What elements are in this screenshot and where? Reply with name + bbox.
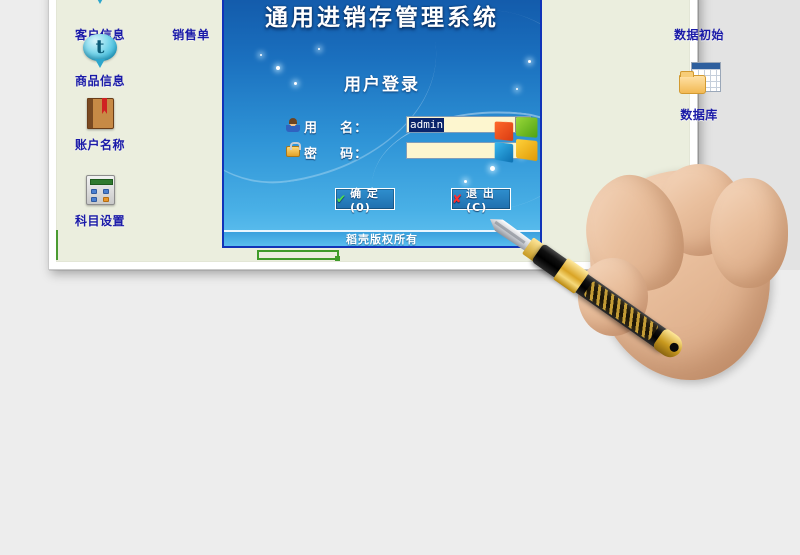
speech-bubble-icon: t bbox=[78, 0, 122, 26]
user-icon bbox=[286, 118, 300, 132]
windows-logo-icon bbox=[495, 116, 543, 168]
document-icon bbox=[169, 0, 213, 26]
username-label: 用 名： bbox=[304, 117, 368, 136]
page-title: 通用进销存管理系统 bbox=[224, 0, 540, 32]
close-icon: ✘ bbox=[452, 192, 463, 206]
login-subtitle: 用户登录 bbox=[224, 70, 540, 95]
cell-selection-rectangle[interactable] bbox=[257, 250, 339, 260]
data-init-icon bbox=[677, 0, 721, 26]
username-value: admin bbox=[409, 118, 444, 132]
speech-bubble-icon: t bbox=[78, 32, 122, 72]
hand-knuckle bbox=[710, 178, 788, 288]
worksheet-icon-label: 数据库 bbox=[656, 108, 742, 122]
worksheet-icon-account-name[interactable]: 账户名称 bbox=[57, 96, 143, 152]
ok-button-label: 确 定(0) bbox=[350, 185, 394, 214]
worksheet-icon-label: 科目设置 bbox=[57, 214, 143, 228]
decor-sparkle bbox=[490, 166, 495, 171]
decor-sparkle bbox=[464, 180, 467, 183]
screenshot-canvas: t 客户信息 t 商品信息 账户名称 科目设置 销售单 数据初始 bbox=[0, 0, 800, 555]
decor-swoosh-3 bbox=[414, 10, 542, 210]
check-icon: ✔ bbox=[336, 192, 347, 206]
lock-icon bbox=[286, 146, 300, 157]
exit-button-label: 退 出(C) bbox=[466, 185, 510, 214]
decor-sparkle bbox=[528, 60, 531, 63]
book-icon bbox=[78, 96, 122, 136]
decor-sparkle bbox=[260, 54, 262, 56]
hand-holding-pen-photo bbox=[560, 148, 800, 438]
worksheet-icon-subject-setup[interactable]: 科目设置 bbox=[57, 172, 143, 228]
database-folder-icon bbox=[677, 62, 721, 102]
worksheet-icon-product-info[interactable]: t 商品信息 bbox=[57, 32, 143, 88]
password-label: 密 码： bbox=[304, 143, 368, 162]
worksheet-icon-label: 账户名称 bbox=[57, 138, 143, 152]
calculator-icon bbox=[78, 172, 122, 212]
exit-button[interactable]: ✘ 退 出(C) bbox=[451, 188, 511, 210]
decor-sparkle bbox=[318, 48, 320, 50]
selection-edge-left bbox=[56, 230, 58, 260]
ok-button[interactable]: ✔ 确 定(0) bbox=[335, 188, 395, 210]
worksheet-icon-label: 商品信息 bbox=[57, 74, 143, 88]
worksheet-icon-label: 数据初始 bbox=[656, 28, 742, 42]
worksheet-icon-database[interactable]: 数据库 bbox=[656, 62, 742, 122]
worksheet-icon-data-init[interactable]: 数据初始 bbox=[656, 0, 742, 42]
decor-swoosh-1 bbox=[222, 31, 452, 196]
